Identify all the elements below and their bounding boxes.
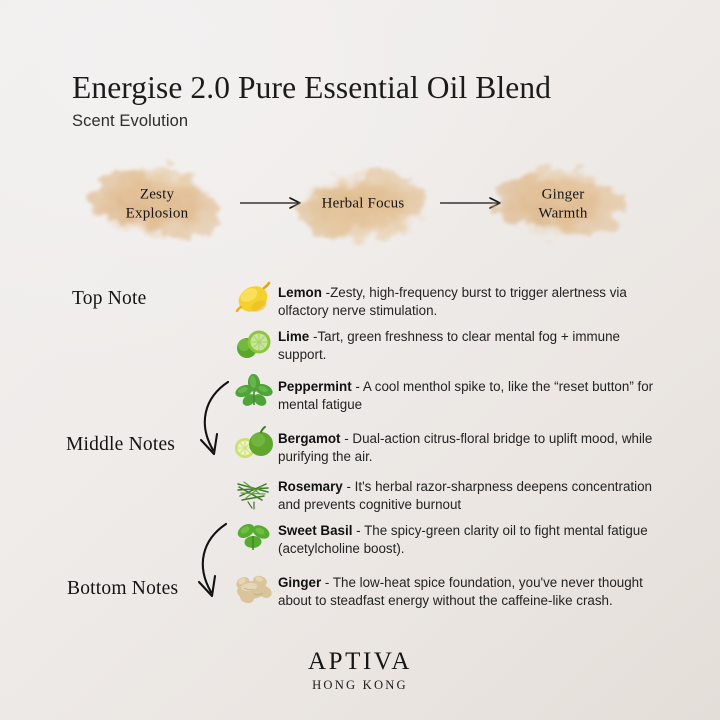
page-subtitle: Scent Evolution <box>72 112 652 131</box>
note-name-bergamot: Bergamot <box>278 431 341 446</box>
note-text-lemon: Lemon -Zesty, high-frequency burst to tr… <box>278 282 668 320</box>
note-name-basil: Sweet Basil <box>278 523 352 538</box>
note-text-bergamot: Bergamot - Dual-action citrus-floral bri… <box>278 428 668 466</box>
note-row-bergamot: Bergamot - Dual-action citrus-floral bri… <box>232 428 668 466</box>
evolution-stage-3: GingerWarmth <box>478 152 648 256</box>
note-sep-bergamot: - <box>341 431 353 446</box>
note-name-lemon: Lemon <box>278 285 322 300</box>
page-title: Energise 2.0 Pure Essential Oil Blend <box>72 70 652 105</box>
section-label-bottom-notes: Bottom Notes <box>67 578 178 600</box>
note-row-peppermint: Peppermint - A cool menthol spike to, li… <box>232 376 668 414</box>
note-row-basil: Sweet Basil - The spicy-green clarity oi… <box>232 520 668 558</box>
note-desc-lime: Tart, green freshness to clear mental fo… <box>278 329 620 362</box>
poster-canvas: Energise 2.0 Pure Essential Oil Blend Sc… <box>0 0 720 720</box>
lime-icon <box>232 322 278 364</box>
brand-name: APTIVA <box>0 649 720 674</box>
note-name-ginger: Ginger <box>278 575 321 590</box>
note-text-lime: Lime -Tart, green freshness to clear men… <box>278 326 668 364</box>
peppermint-icon <box>232 372 278 414</box>
scent-evolution-diagram: ZestyExplosion <box>72 152 648 256</box>
note-text-peppermint: Peppermint - A cool menthol spike to, li… <box>278 376 668 414</box>
note-name-rosemary: Rosemary <box>278 479 343 494</box>
note-desc-lemon: Zesty, high-frequency burst to trigger a… <box>278 285 627 318</box>
note-sep-lemon: - <box>322 285 330 300</box>
evolution-stage-2-label: Herbal Focus <box>278 195 448 214</box>
note-row-ginger: Ginger - The low-heat spice foundation, … <box>232 572 668 610</box>
note-row-rosemary: Rosemary - It's herbal razor-sharpness d… <box>232 476 668 514</box>
note-name-peppermint: Peppermint <box>278 379 352 394</box>
note-sep-ginger: - <box>321 575 333 590</box>
note-row-lemon: Lemon -Zesty, high-frequency burst to tr… <box>232 282 668 320</box>
evolution-stage-2: Herbal Focus <box>278 152 448 256</box>
evolution-stage-3-label: GingerWarmth <box>478 185 648 223</box>
header: Energise 2.0 Pure Essential Oil Blend Sc… <box>72 70 652 131</box>
section-label-top-note: Top Note <box>72 288 146 310</box>
note-sep-peppermint: - <box>352 379 363 394</box>
section-label-middle-notes: Middle Notes <box>66 434 175 456</box>
note-row-lime: Lime -Tart, green freshness to clear men… <box>232 326 668 364</box>
lemon-icon <box>232 278 278 320</box>
note-sep-rosemary: - <box>343 479 355 494</box>
note-sep-basil: - <box>352 523 364 538</box>
basil-icon <box>232 516 278 558</box>
note-text-basil: Sweet Basil - The spicy-green clarity oi… <box>278 520 668 558</box>
note-name-lime: Lime <box>278 329 309 344</box>
bergamot-icon <box>232 424 278 466</box>
evolution-stage-1-label: ZestyExplosion <box>72 185 242 223</box>
brand-location: HONG KONG <box>0 679 720 692</box>
evolution-stage-1: ZestyExplosion <box>72 152 242 256</box>
ginger-icon <box>232 568 278 610</box>
note-text-ginger: Ginger - The low-heat spice foundation, … <box>278 572 668 610</box>
brand-logo: APTIVA HONG KONG <box>0 649 720 692</box>
note-desc-ginger: The low-heat spice foundation, you've ne… <box>278 575 643 608</box>
rosemary-icon <box>232 472 278 514</box>
note-text-rosemary: Rosemary - It's herbal razor-sharpness d… <box>278 476 668 514</box>
